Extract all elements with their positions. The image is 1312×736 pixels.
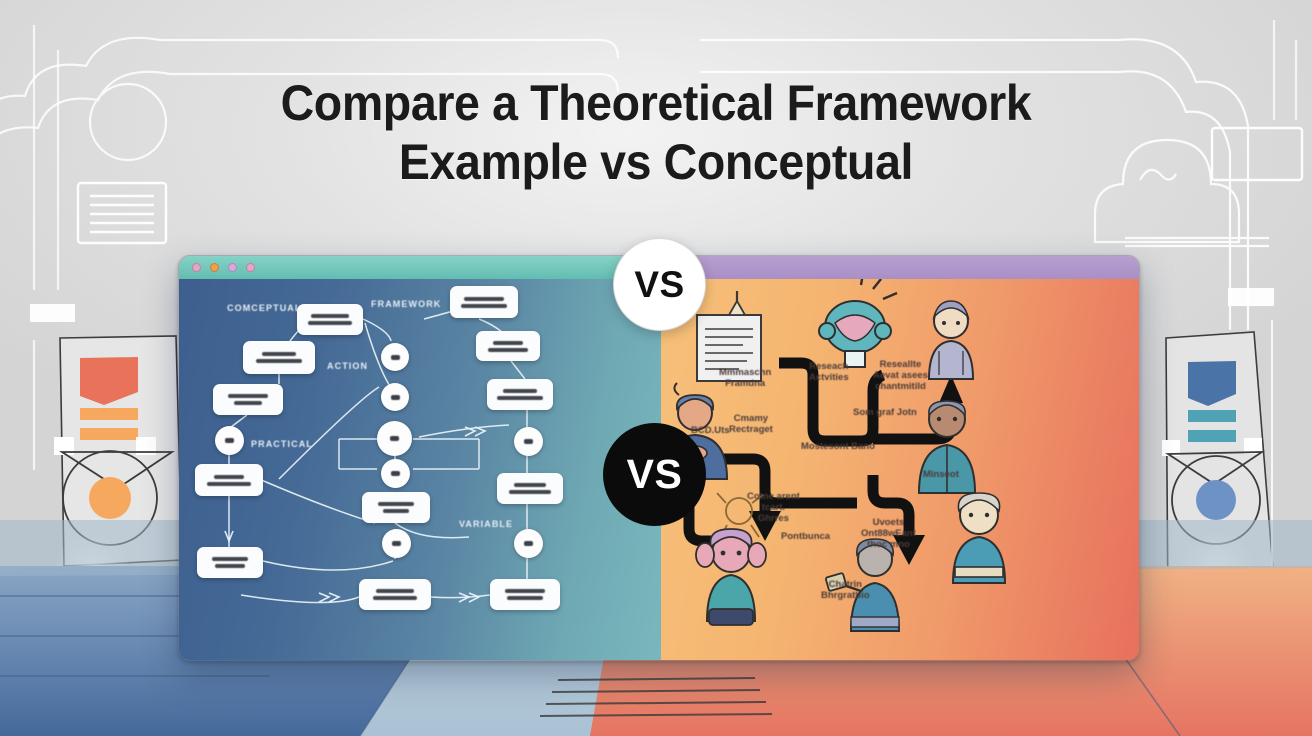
diagram-node-circle[interactable] (382, 529, 411, 558)
diagram-node-box[interactable] (497, 473, 563, 504)
theoretical-framework-panel[interactable]: COMCEPTUALFRAMEWORKACTIONPRACTICALVARIAB… (179, 279, 661, 661)
diagram-node-circle[interactable] (514, 529, 543, 558)
diagram-node-box[interactable] (450, 286, 518, 318)
concept-label: UvoetsOnt88wEantthoc mno (861, 517, 916, 550)
diagram-node-box[interactable] (487, 379, 553, 410)
diagram-node-circle[interactable] (381, 343, 409, 371)
concept-label: Minseot (923, 469, 959, 480)
purple-dot-icon[interactable] (228, 263, 237, 272)
vs-badge-top: VS (613, 238, 706, 331)
concept-label: ReseachActvities (809, 361, 849, 383)
concept-label: Mostesont Bano (801, 441, 875, 452)
concept-label: ReseallteAevat aseeschantmitild (873, 359, 928, 392)
concept-label: MmmaschnFramdna (719, 367, 771, 389)
diagram-node-circle[interactable] (381, 383, 409, 411)
diagram-node-box[interactable] (213, 384, 283, 415)
titlebar-right (661, 256, 1139, 279)
concept-label: Pontbunca (781, 531, 830, 542)
diagram-node-box[interactable] (297, 304, 363, 335)
vs-badge-center: VS (603, 423, 706, 526)
orange-dot-icon[interactable] (210, 263, 219, 272)
diagram-node-circle[interactable] (215, 426, 244, 455)
diagram-edge-label: FRAMEWORK (371, 299, 441, 309)
title-line-2: Example vs Conceptual (46, 133, 1266, 192)
diagram-node-box[interactable] (359, 579, 431, 610)
diagram-edge-label: COMCEPTUAL (227, 303, 302, 313)
diagram-node-circle[interactable] (514, 427, 543, 456)
diagram-node-box[interactable] (362, 492, 430, 523)
concept-label: Cotne arenttcart.Ghrres (747, 491, 800, 524)
diagram-node-box[interactable] (197, 547, 263, 578)
pink-dot-icon[interactable] (192, 263, 201, 272)
concept-label: CmamyRectraget (729, 413, 773, 435)
diagram-node-box[interactable] (490, 579, 560, 610)
diagram-node-circle[interactable] (381, 459, 410, 488)
titlebar-left (179, 256, 661, 279)
title-line-1: Compare a Theoretical Framework (281, 75, 1032, 131)
page-title: Compare a Theoretical Framework Example … (46, 74, 1266, 192)
pink-dot-icon[interactable] (246, 263, 255, 272)
concept-arrows-and-figures (661, 279, 1139, 661)
diagram-edge-label: ACTION (327, 361, 368, 371)
diagram-node-circle[interactable] (377, 421, 412, 456)
diagram-edge-label: PRACTICAL (251, 439, 313, 449)
diagram-node-box[interactable] (476, 331, 540, 361)
concept-label: ChatrinBhrgratbio (821, 579, 870, 601)
diagram-node-box[interactable] (195, 464, 263, 496)
concept-label: Som graf Jotn (853, 407, 917, 418)
diagram-edge-label: VARIABLE (459, 519, 513, 529)
concept-label: BCD.Uts (691, 425, 730, 436)
conceptual-framework-panel[interactable]: MmmaschnFramdnaReseachActvitiesReseallte… (661, 279, 1139, 661)
diagram-node-box[interactable] (243, 341, 315, 374)
